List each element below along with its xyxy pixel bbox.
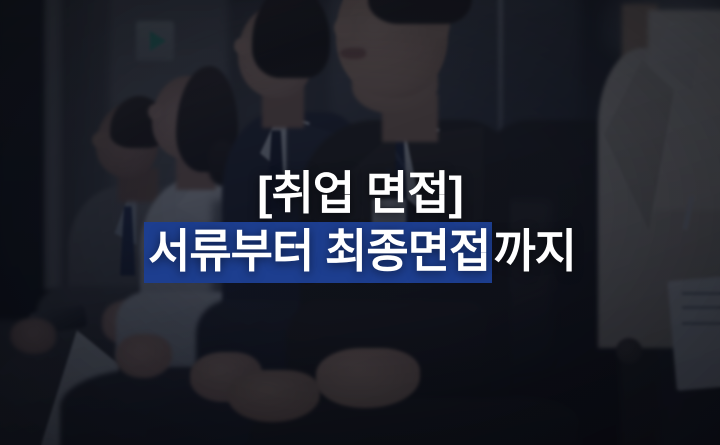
title-line-2: 서류부터 최종면접까지	[144, 226, 576, 278]
title-tail: 까지	[492, 225, 576, 277]
title-highlight: 서류부터 최종면접	[144, 222, 492, 283]
title-line-1: [취업 면접]	[257, 168, 463, 220]
title-overlay: [취업 면접] 서류부터 최종면접까지	[0, 0, 720, 445]
thumbnail-canvas: [취업 면접] 서류부터 최종면접까지	[0, 0, 720, 445]
